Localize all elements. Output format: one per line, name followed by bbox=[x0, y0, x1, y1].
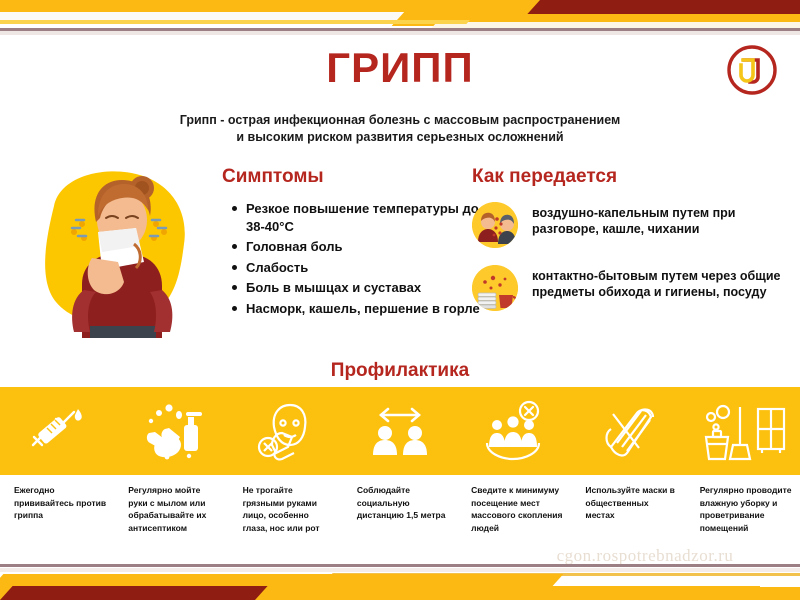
prevention-caption: Сведите к минимуму посещение мест массов… bbox=[457, 484, 571, 534]
transmission-item-text: воздушно-капельным путем при разговоре, … bbox=[532, 202, 800, 237]
top-dark-red-diagonal bbox=[527, 0, 800, 14]
syringe-icon bbox=[25, 399, 89, 463]
list-item: Боль в мышцах и суставах bbox=[246, 279, 486, 297]
top-yellow-strip-left bbox=[0, 0, 430, 12]
bottom-dark-red-diagonal bbox=[0, 586, 268, 600]
prevention-icon-cell bbox=[343, 387, 457, 475]
prevention-caption: Соблюдайте социальную дистанцию 1,5 метр… bbox=[343, 484, 457, 534]
prevention-icons-row bbox=[0, 387, 800, 475]
prevention-captions-row: Ежегодно прививайтесь против гриппа Регу… bbox=[0, 484, 800, 534]
rospotrebnadzor-logo-icon bbox=[726, 44, 778, 96]
prevention-caption: Не трогайте грязными руками лицо, особен… bbox=[229, 484, 343, 534]
transmission-heading: Как передается bbox=[472, 166, 617, 188]
prevention-caption: Ежегодно прививайтесь против гриппа bbox=[0, 484, 114, 534]
page-title: ГРИПП bbox=[0, 44, 800, 92]
handwashing-icon bbox=[137, 399, 205, 463]
sneezing-woman-illustration bbox=[24, 166, 204, 338]
avoid-crowds-icon bbox=[479, 399, 549, 463]
prevention-icon-cell bbox=[0, 387, 114, 475]
page-subtitle: Грипп - острая инфекционная болезнь с ма… bbox=[110, 112, 690, 146]
symptoms-list: Резкое повышение температуры до 38-40°C … bbox=[224, 200, 486, 320]
transmission-item: воздушно-капельным путем при разговоре, … bbox=[472, 202, 800, 248]
top-white-strip-left bbox=[0, 12, 400, 20]
transmission-item: контактно-бытовым путем через общие пред… bbox=[472, 265, 800, 311]
prevention-caption: Используйте маски в общественных местах bbox=[571, 484, 685, 534]
prevention-icon-cell bbox=[686, 387, 800, 475]
top-cream-rule bbox=[0, 31, 800, 35]
prevention-caption: Регулярно проводите влажную уборку и про… bbox=[686, 484, 800, 534]
list-item: Слабость bbox=[246, 259, 486, 277]
prevention-caption: Регулярно мойте руки с мылом или обрабат… bbox=[114, 484, 228, 534]
subtitle-line-1: Грипп - острая инфекционная болезнь с ма… bbox=[110, 112, 690, 129]
symptoms-heading: Симптомы bbox=[222, 166, 324, 188]
social-distance-icon bbox=[365, 399, 435, 463]
cleaning-airing-icon bbox=[700, 399, 786, 463]
prevention-icon-cell bbox=[114, 387, 228, 475]
two-people-talking-icon bbox=[472, 202, 518, 248]
top-decorative-band bbox=[0, 0, 800, 42]
prevention-icon-cell bbox=[571, 387, 685, 475]
top-thin-yellow-line bbox=[0, 20, 470, 24]
subtitle-line-2: и высоким риском развития серьезных осло… bbox=[110, 129, 690, 146]
bottom-cream-rule bbox=[0, 568, 800, 572]
bottom-mauve-rule bbox=[0, 564, 800, 567]
prevention-icon-cell bbox=[457, 387, 571, 475]
face-mask-icon bbox=[595, 399, 663, 463]
bottom-decorative-band bbox=[0, 554, 800, 600]
list-item: Головная боль bbox=[246, 238, 486, 256]
transmission-item-text: контактно-бытовым путем через общие пред… bbox=[532, 265, 800, 300]
list-item: Резкое повышение температуры до 38-40°C bbox=[246, 200, 486, 235]
prevention-heading: Профилактика bbox=[0, 360, 800, 382]
flu-infographic-poster: ГРИПП Грипп - острая инфекционная болезн… bbox=[0, 0, 800, 600]
list-item: Насморк, кашель, першение в горле bbox=[246, 300, 486, 318]
no-face-touching-icon bbox=[254, 399, 318, 463]
prevention-icon-cell bbox=[229, 387, 343, 475]
shared-dishes-icon bbox=[472, 265, 518, 311]
